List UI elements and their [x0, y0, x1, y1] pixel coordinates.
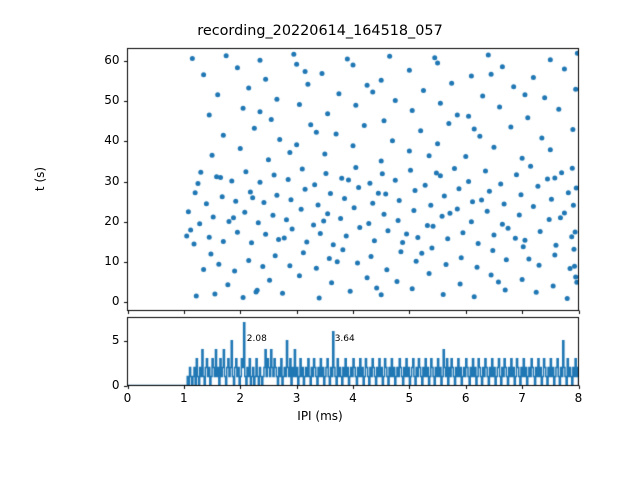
plot-canvas	[0, 0, 640, 480]
matplotlib-figure: recording_20220614_164518_057 t (s) IPI …	[0, 0, 640, 480]
